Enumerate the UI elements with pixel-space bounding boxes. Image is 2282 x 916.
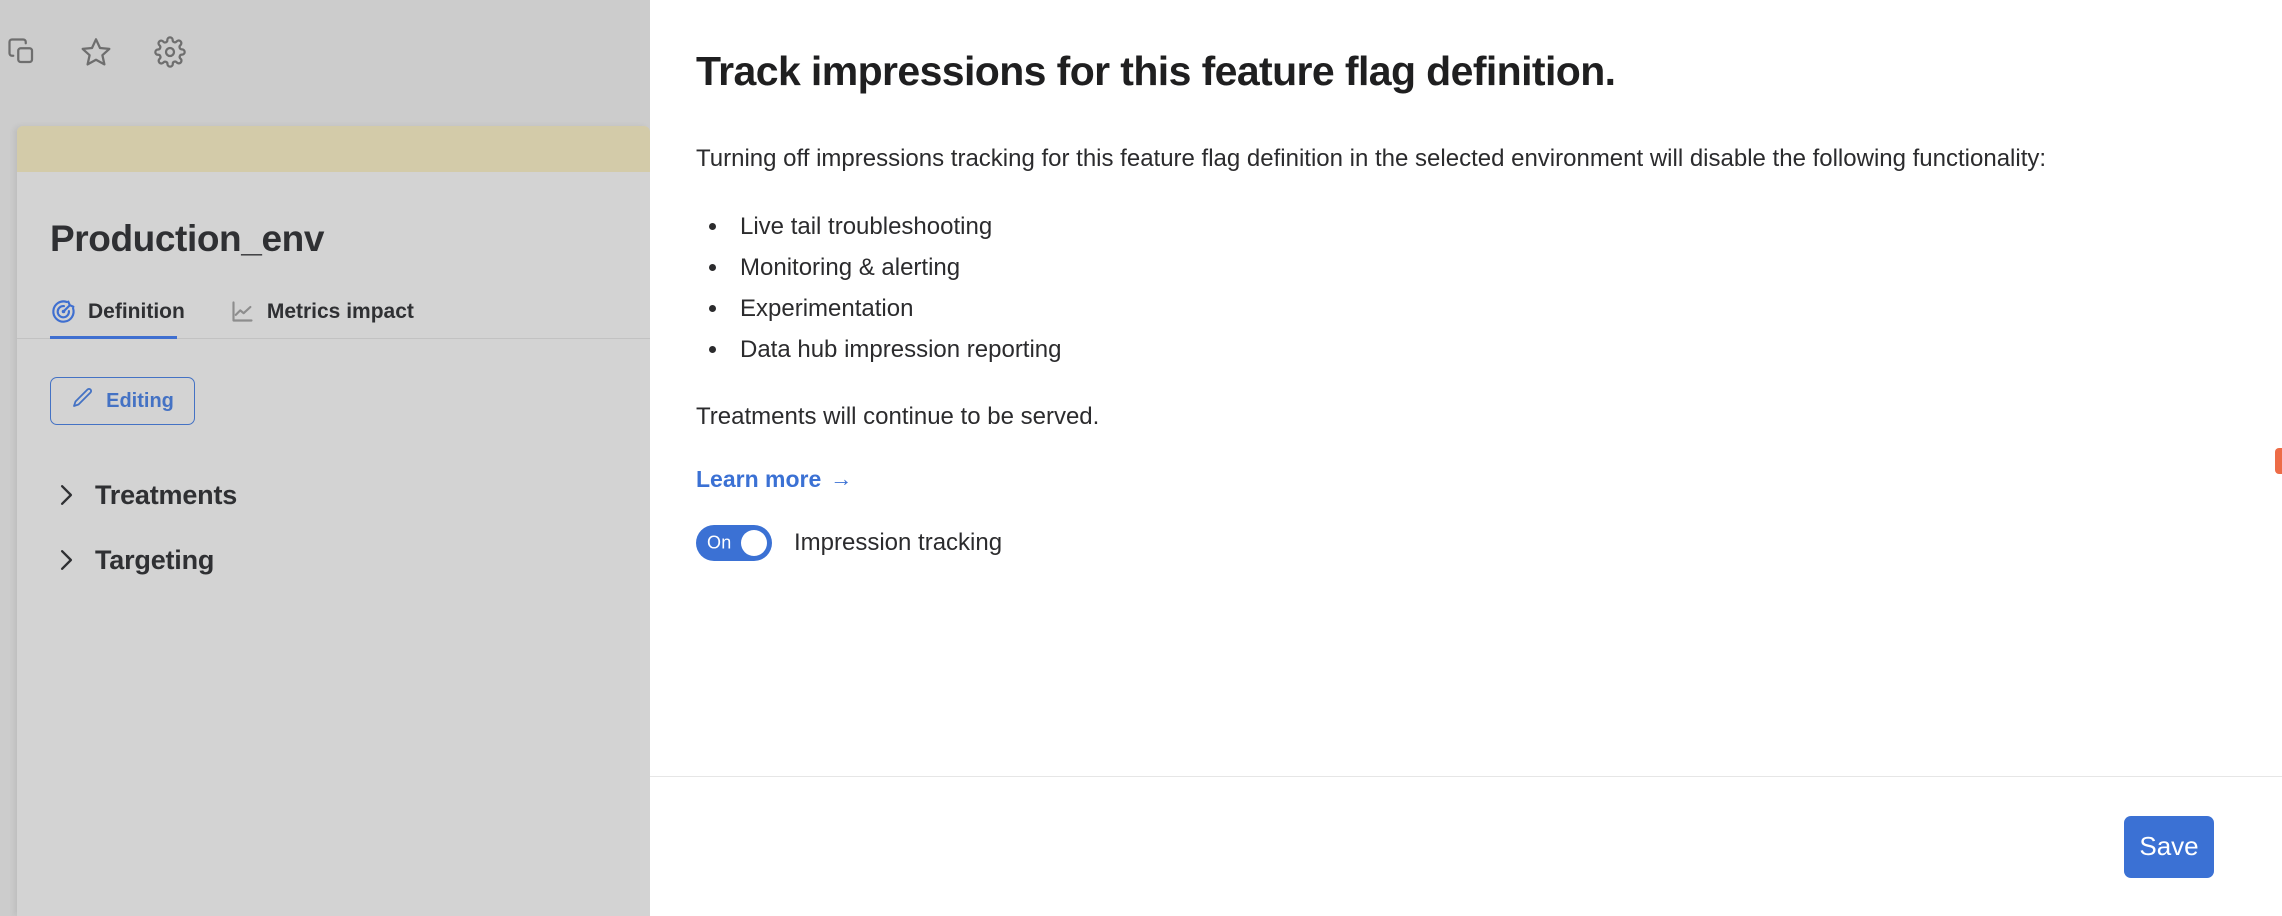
impressions-tracking-panel: Track impressions for this feature flag … [650, 0, 2282, 916]
tab-bar: Definition Metrics impact [17, 298, 650, 339]
toolbar-icons [0, 30, 192, 74]
chevron-right-icon [57, 547, 75, 573]
save-button[interactable]: Save [2124, 816, 2214, 878]
disabled-functionality-list: Live tail troubleshooting Monitoring & a… [730, 207, 2214, 370]
list-item: Monitoring & alerting [730, 248, 2214, 289]
gear-icon[interactable] [148, 30, 192, 74]
definition-sections: Treatments Targeting [17, 471, 650, 584]
edge-feedback-tab[interactable] [2275, 448, 2282, 474]
star-icon[interactable] [74, 30, 118, 74]
impression-tracking-row: On Impression tracking [696, 525, 2214, 561]
tab-metrics-impact-label: Metrics impact [267, 300, 414, 324]
flag-detail-card: Production_env Definition [17, 126, 650, 916]
tab-metrics-impact[interactable]: Metrics impact [229, 298, 432, 338]
section-treatments[interactable]: Treatments [57, 471, 650, 519]
target-icon [50, 298, 77, 325]
card-banner [17, 126, 650, 172]
editing-button-label: Editing [106, 390, 174, 413]
toggle-state-label: On [707, 532, 731, 553]
tab-definition-label: Definition [88, 300, 185, 324]
backdrop-app: Production_env Definition [0, 0, 650, 916]
section-treatments-label: Treatments [95, 480, 237, 511]
pencil-icon [71, 386, 95, 416]
page-title: Production_env [50, 218, 650, 260]
learn-more-label: Learn more [696, 466, 821, 493]
copy-icon[interactable] [0, 30, 44, 74]
panel-title: Track impressions for this feature flag … [696, 48, 2214, 95]
chevron-right-icon [57, 482, 75, 508]
line-chart-icon [229, 298, 256, 325]
section-targeting[interactable]: Targeting [57, 536, 650, 584]
learn-more-link[interactable]: Learn more → [696, 466, 852, 493]
panel-footer: Save [650, 777, 2282, 916]
impression-tracking-label: Impression tracking [794, 529, 1002, 557]
section-targeting-label: Targeting [95, 545, 214, 576]
app-root: Production_env Definition [0, 0, 2282, 916]
list-item: Live tail troubleshooting [730, 207, 2214, 248]
panel-intro-text: Turning off impressions tracking for thi… [696, 141, 2214, 177]
panel-body: Track impressions for this feature flag … [650, 0, 2282, 561]
arrow-right-icon: → [830, 466, 852, 492]
toggle-knob [741, 530, 767, 556]
editing-button[interactable]: Editing [50, 377, 195, 425]
impression-tracking-toggle[interactable]: On [696, 525, 772, 561]
list-item: Data hub impression reporting [730, 330, 2214, 371]
tab-definition[interactable]: Definition [50, 298, 203, 338]
treatments-note: Treatments will continue to be served. [696, 403, 2214, 431]
list-item: Experimentation [730, 289, 2214, 330]
